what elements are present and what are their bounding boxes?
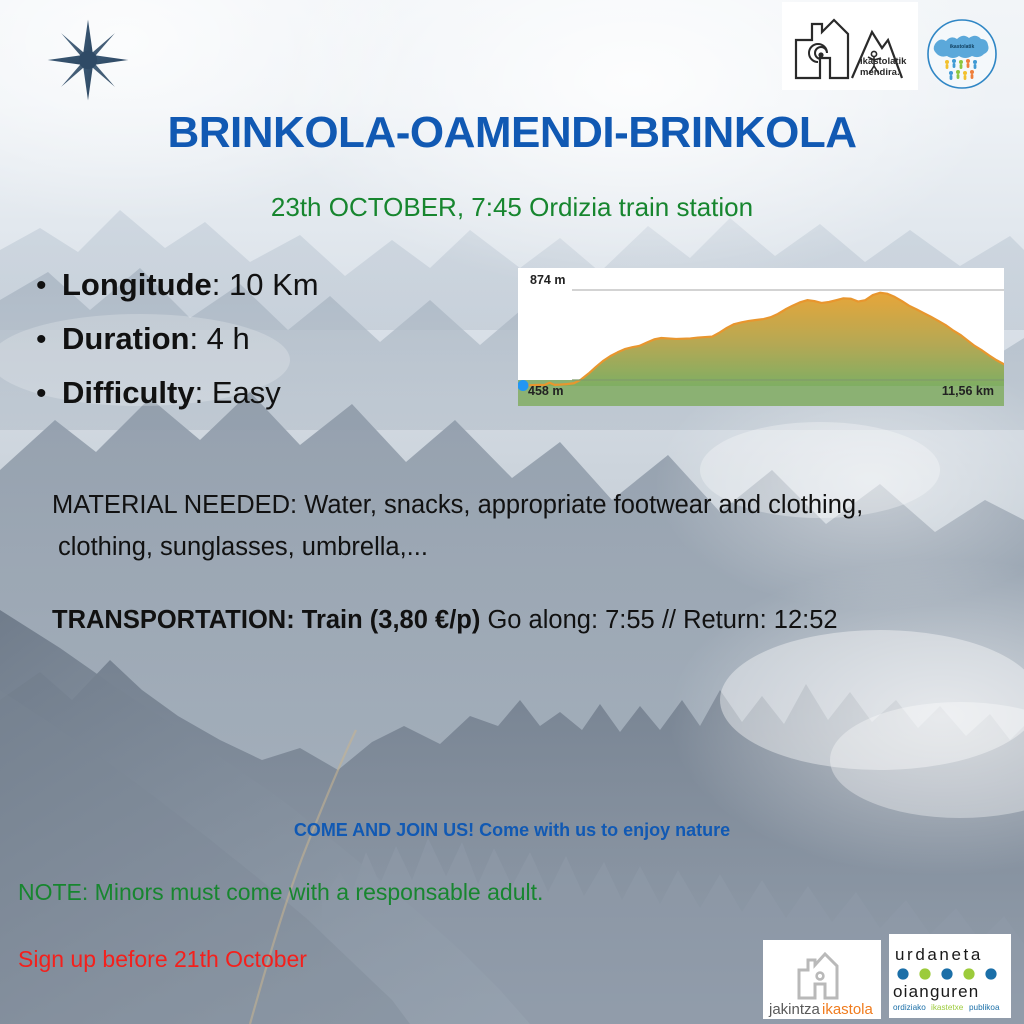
jakintza-ikastola-logo: jakintza ikastola — [763, 940, 881, 1019]
transportation-text: TRANSPORTATION: Train (3,80 €/p) Go alon… — [52, 606, 1012, 635]
fact-key: Difficulty — [62, 375, 195, 410]
fact-sep: : — [189, 321, 206, 356]
ordiziako-word: ordiziako — [893, 1003, 926, 1012]
fact-value: 10 Km — [229, 267, 319, 302]
page-subtitle: 23th OCTOBER, 7:45 Ordizia train station — [0, 192, 1024, 223]
chart-ymax-label: 874 m — [530, 273, 565, 287]
svg-text:mendira.: mendira. — [860, 67, 900, 78]
publikoa-word: publikoa — [969, 1003, 1000, 1012]
list-item: • Longitude: 10 Km — [36, 266, 486, 305]
material-line-2: clothing, sunglasses, umbrella,... — [52, 526, 1002, 568]
transport-bold: TRANSPORTATION: Train (3,80 €/p) — [52, 606, 480, 634]
bullet-icon: • — [36, 271, 62, 301]
poster-root: ikastolatik mendira. ikastolatik — [0, 0, 1024, 1024]
page-title: BRINKOLA-OAMENDI-BRINKOLA — [0, 108, 1024, 158]
fact-sep: : — [212, 267, 229, 302]
ikastolatik-mendira-logo: ikastolatik mendira. — [782, 2, 918, 90]
bullet-icon: • — [36, 379, 62, 409]
signup-deadline-text: Sign up before 21th October — [18, 946, 307, 973]
svg-text:ikastolatik: ikastolatik — [860, 56, 907, 67]
urdaneta-word: urdaneta — [895, 945, 983, 964]
elevation-profile-chart: 874 m 458 m 11,56 km — [518, 268, 1004, 406]
bullet-icon: • — [36, 325, 62, 355]
house-mountain-sketch-icon: ikastolatik mendira. — [782, 2, 918, 90]
fact-sep: : — [195, 375, 212, 410]
chart-xmax-label: 11,56 km — [942, 384, 994, 398]
fact-key: Longitude — [62, 267, 212, 302]
list-item: • Duration: 4 h — [36, 320, 486, 359]
call-to-action-text: COME AND JOIN US! Come with us to enjoy … — [0, 820, 1024, 841]
ikastetxe-word: ikastetxe — [931, 1003, 964, 1012]
urdaneta-oianguren-logo: urdaneta oianguren ordiziako ikastetxe p… — [889, 934, 1011, 1018]
list-item: • Difficulty: Easy — [36, 374, 486, 413]
route-facts-list: • Longitude: 10 Km • Duration: 4 h • Dif… — [36, 266, 486, 427]
circular-blue-badge-logo: ikastolatik — [925, 17, 999, 91]
ikastola-word: ikastola — [822, 1001, 874, 1018]
compass-star-icon — [46, 18, 130, 102]
material-needed-text: MATERIAL NEEDED: Water, snacks, appropri… — [52, 484, 1002, 568]
svg-text:ikastolatik: ikastolatik — [950, 44, 975, 50]
chart-ymin-label: 458 m — [528, 384, 563, 398]
note-text: NOTE: Minors must come with a responsabl… — [18, 879, 543, 906]
transport-rest: Go along: 7:55 // Return: 12:52 — [480, 606, 837, 634]
fact-value: 4 h — [207, 321, 250, 356]
fact-value: Easy — [212, 375, 281, 410]
elevation-chart-svg — [518, 268, 1004, 406]
jakintza-word: jakintza — [768, 1001, 821, 1018]
material-line-1: MATERIAL NEEDED: Water, snacks, appropri… — [52, 491, 863, 519]
fact-key: Duration — [62, 321, 189, 356]
oianguren-word: oianguren — [893, 982, 979, 1001]
